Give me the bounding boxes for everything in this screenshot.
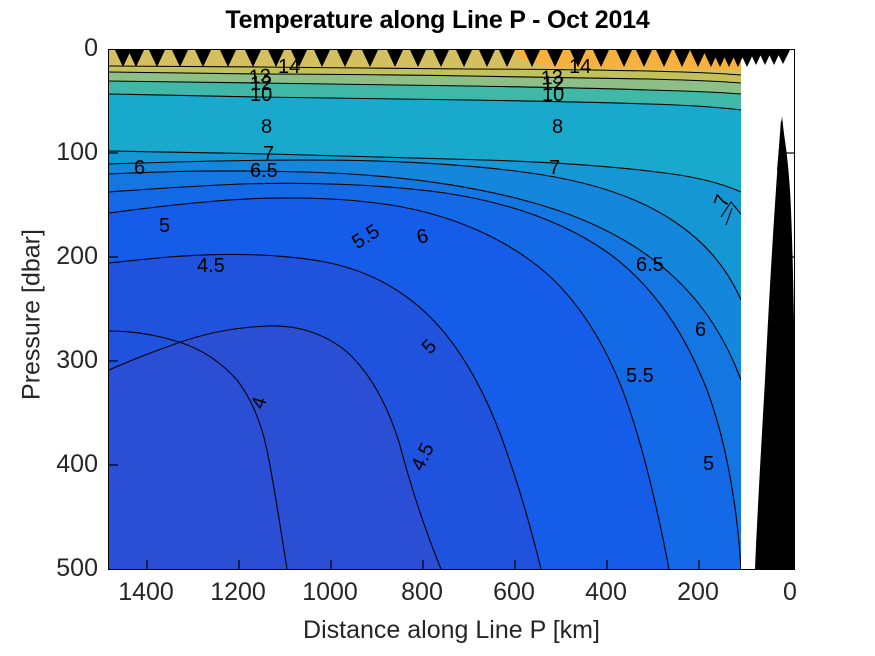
contour-label: 8 (552, 117, 563, 137)
contour-label: 5 (159, 216, 170, 236)
contour-label: 14 (278, 57, 300, 77)
contour-label: 14 (569, 57, 591, 77)
page-title: Temperature along Line P - Oct 2014 (0, 6, 875, 35)
x-axis-label: Distance along Line P [km] (108, 616, 795, 645)
contour-label: 6.5 (250, 161, 278, 181)
contour-label: 8 (261, 117, 272, 137)
figure-container: Temperature along Line P - Oct 2014 (0, 0, 875, 656)
x-tick-label: 0 (735, 578, 845, 607)
contour-label: 6 (134, 158, 145, 178)
y-axis-label: Pressure [dbar] (18, 155, 47, 475)
contour-label: 6.5 (636, 255, 664, 275)
contour-label: 5 (703, 454, 714, 474)
contour-label: 10 (542, 85, 564, 105)
contour-plot (109, 50, 794, 569)
contour-label: 6 (695, 320, 706, 340)
contour-label: 7 (549, 158, 560, 178)
y-tick-label: 500 (8, 554, 98, 583)
contour-label: 5.5 (626, 366, 654, 386)
filled-contour-bands (109, 50, 741, 569)
contour-label: 10 (250, 85, 272, 105)
y-tick-label: 0 (8, 34, 98, 63)
plot-axes: 14 13 12 10 8 7 6.5 6 5 4.5 4 5.5 6 5 4.… (108, 49, 795, 570)
contour-label: 4.5 (197, 256, 225, 276)
